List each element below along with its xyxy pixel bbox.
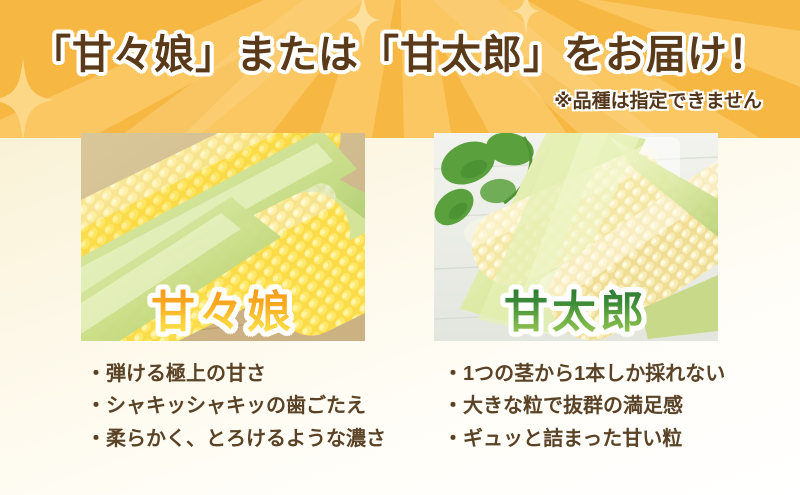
list-item: ・柔らかく、とろけるような濃さ — [86, 423, 386, 455]
header-note: ※品種は指定できません — [554, 86, 762, 113]
feature-list-kantaro: ・1つの茎から1本しか採れない ・大きな粒で抜群の満足感 ・ギュッと詰まった甘い… — [443, 358, 725, 455]
feature-list-kankan-musume: ・弾ける極上の甘さ ・シャキッシャキッの歯ごたえ ・柔らかく、とろけるような濃さ — [86, 358, 386, 455]
list-item: ・大きな粒で抜群の満足感 — [443, 390, 725, 422]
list-item: ・ギュッと詰まった甘い粒 — [443, 423, 725, 455]
corn-label-text: 甘太郎 — [504, 288, 648, 337]
header-band: 「甘々娘」または「甘太郎」をお届け！ ※品種は指定できません — [0, 0, 800, 138]
list-item: ・弾ける極上の甘さ — [86, 358, 386, 390]
list-item: ・1つの茎から1本しか採れない — [443, 358, 725, 390]
promo-banner: 「甘々娘」または「甘太郎」をお届け！ ※品種は指定できません — [0, 0, 800, 495]
corn-label-kantaro: 甘太郎 甘太郎 — [434, 291, 718, 335]
list-item: ・シャキッシャキッの歯ごたえ — [86, 390, 386, 422]
panel-kankan-musume: 甘々娘 甘々娘 — [81, 133, 365, 341]
corn-label-text: 甘々娘 — [151, 288, 295, 337]
corn-label-kankan-musume: 甘々娘 甘々娘 — [81, 291, 365, 335]
page-title: 「甘々娘」または「甘太郎」をお届け！ — [0, 22, 800, 80]
panel-kantaro: 甘太郎 甘太郎 — [434, 133, 718, 341]
